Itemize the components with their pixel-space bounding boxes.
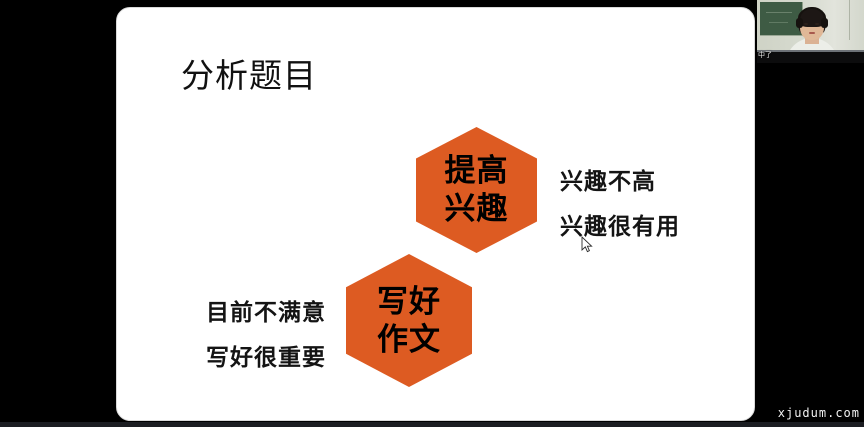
hexagon-bottom-line-2: 作文 bbox=[377, 321, 441, 359]
screen-recording-frame: 分析题目 目前不满意 写好很重要 兴趣不高 兴趣很有用 写好 作文 提高 兴趣 bbox=[0, 0, 864, 427]
annotation-right-bottom: 兴趣很有用 bbox=[560, 212, 680, 242]
slide-title: 分析题目 bbox=[181, 56, 317, 96]
headphone-cup-left bbox=[796, 18, 803, 28]
chalk-mark bbox=[766, 12, 792, 13]
bottom-letterbox-strip bbox=[0, 422, 864, 427]
presentation-slide[interactable]: 分析题目 目前不满意 写好很重要 兴趣不高 兴趣很有用 写好 作文 提高 兴趣 bbox=[116, 7, 755, 421]
webcam-video-panel[interactable]: 中了 xjudum.com bbox=[757, 0, 864, 427]
hexagon-bottom-line-1: 写好 bbox=[377, 283, 441, 321]
video-desk bbox=[757, 52, 864, 63]
video-person-eye-left bbox=[804, 23, 808, 25]
hexagon-top-line-1: 提高 bbox=[445, 152, 509, 190]
annotation-right-top: 兴趣不高 bbox=[560, 167, 656, 197]
video-wall-seam bbox=[849, 0, 850, 40]
letterbox-left bbox=[0, 0, 113, 427]
headphone-cup-right bbox=[821, 18, 828, 28]
site-watermark: xjudum.com bbox=[778, 406, 860, 421]
webcam-video-feed[interactable]: 中了 bbox=[757, 0, 864, 63]
chalk-mark bbox=[769, 22, 788, 23]
hexagon-shape-bottom[interactable]: 写好 作文 bbox=[346, 254, 472, 387]
annotation-left-top: 目前不满意 bbox=[206, 298, 326, 328]
video-person-mouth bbox=[809, 32, 815, 34]
video-person-eye-right bbox=[815, 23, 819, 25]
hexagon-shape-top[interactable]: 提高 兴趣 bbox=[416, 127, 537, 253]
annotation-left-bottom: 写好很重要 bbox=[206, 343, 326, 373]
hexagon-top-line-2: 兴趣 bbox=[445, 190, 509, 228]
video-overlay-label: 中了 bbox=[758, 51, 772, 60]
